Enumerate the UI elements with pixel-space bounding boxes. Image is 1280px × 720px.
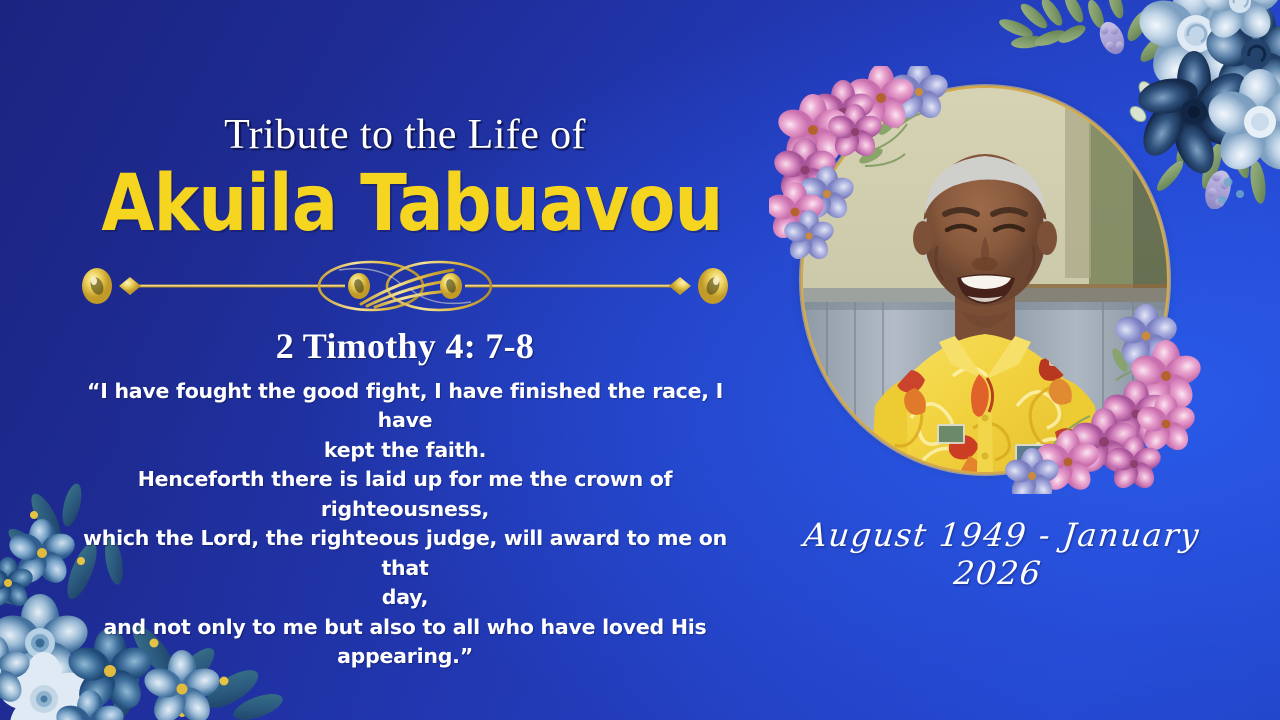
scripture-line: which the Lord, the righteous judge, wil… (75, 524, 735, 583)
tribute-heading: Tribute to the Life of (60, 112, 750, 159)
tribute-text-column: Tribute to the Life of Akuila Tabuavou (60, 112, 750, 672)
memorial-tribute-slide: Tribute to the Life of Akuila Tabuavou (0, 0, 1280, 720)
portrait-photo-icon (803, 88, 1167, 472)
scripture-line: kept the faith. (75, 436, 735, 466)
portrait-circle (803, 88, 1167, 472)
scripture-line: “I have fought the good fight, I have fi… (75, 377, 735, 436)
scripture-line: day, (75, 583, 735, 613)
gold-filigree-divider-icon (75, 260, 735, 312)
scripture-line: Henceforth there is laid up for me the c… (75, 465, 735, 524)
deceased-name: Akuila Tabuavou (101, 165, 708, 245)
portrait-frame (803, 88, 1167, 472)
scripture-line: appearing.” (75, 642, 735, 672)
divider (60, 259, 750, 313)
scripture-line: and not only to me but also to all who h… (75, 613, 735, 643)
scripture-text: “I have fought the good fight, I have fi… (75, 377, 735, 672)
scripture-reference: 2 Timothy 4: 7-8 (60, 325, 750, 367)
life-dates: August 1949 - January 2026 (791, 516, 1209, 592)
